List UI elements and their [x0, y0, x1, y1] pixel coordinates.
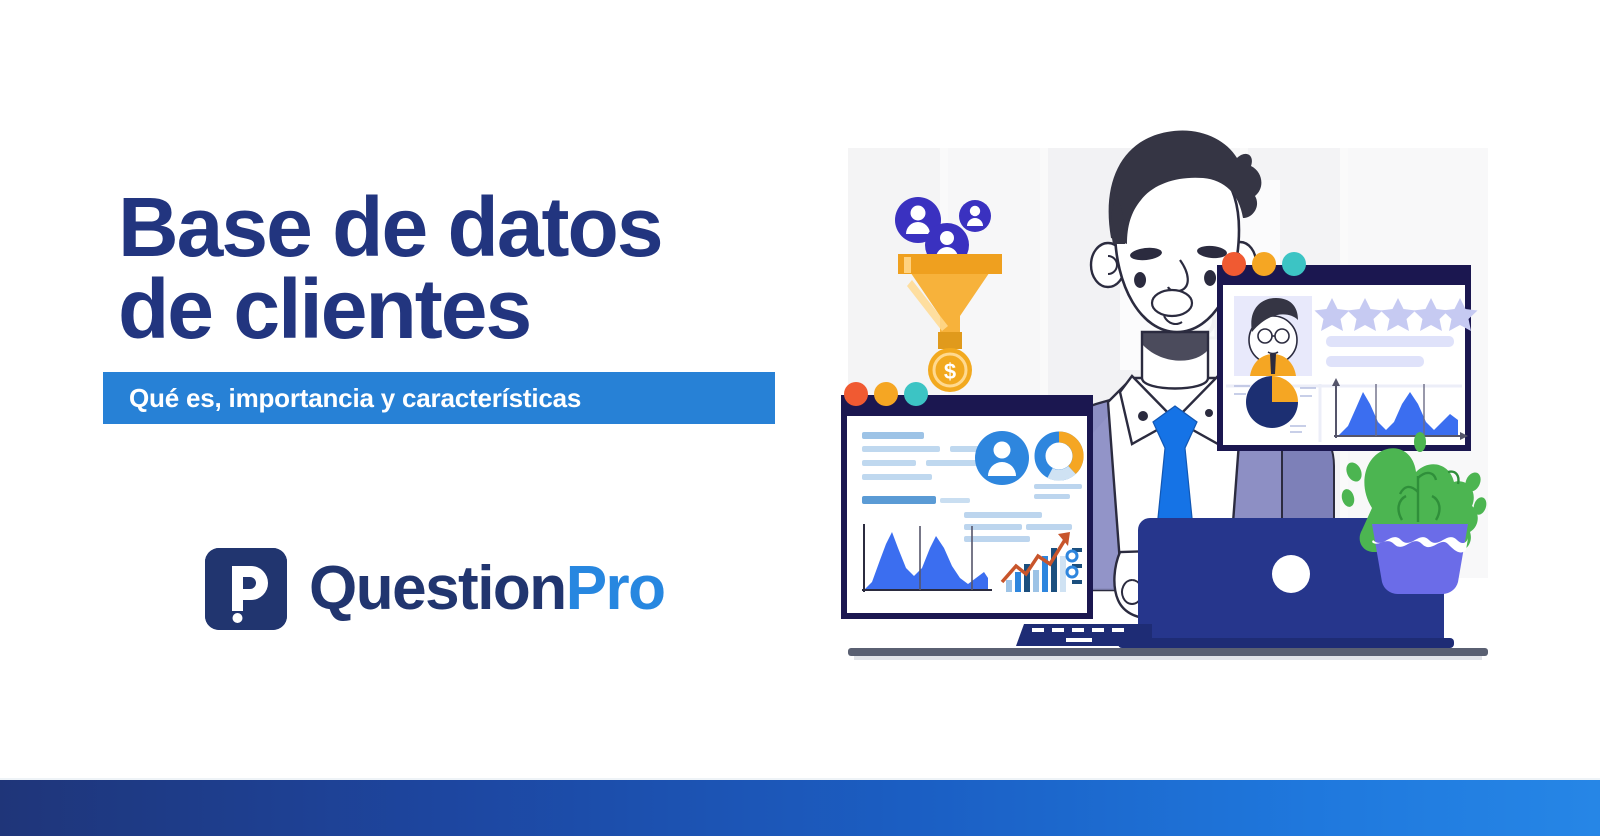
dollar-coin-icon: $ — [928, 348, 972, 392]
hero-illustration: $ — [820, 120, 1520, 680]
page-title: Base de datos de clientes — [118, 186, 808, 351]
window-dot-teal — [904, 382, 928, 406]
hero-text-column: Base de datos de clientes Qué es, import… — [0, 0, 820, 760]
window-dot-red — [844, 382, 868, 406]
subtitle-banner: Qué es, importancia y características — [103, 372, 775, 424]
desk-surface — [848, 648, 1488, 660]
brand-word-question: Question — [309, 554, 566, 623]
questionpro-p-question-mark-icon — [205, 548, 287, 630]
footer-gradient-bar — [0, 780, 1600, 836]
brand-logo[interactable]: QuestionPro — [205, 545, 665, 633]
window-dot-red — [1222, 252, 1246, 276]
window-dot-teal — [1282, 252, 1306, 276]
window-dot-yellow — [874, 382, 898, 406]
plant-pot — [1372, 524, 1468, 594]
poster-canvas: Base de datos de clientes Qué es, import… — [0, 0, 1600, 836]
brand-wordmark: QuestionPro — [309, 558, 665, 620]
left-dashboard-panel — [844, 382, 1090, 616]
svg-text:$: $ — [944, 359, 956, 384]
panel-profile-photo — [1234, 296, 1312, 376]
panel-user-avatar-icon — [975, 431, 1029, 485]
keyboard — [1016, 624, 1152, 646]
brand-word-pro: Pro — [566, 554, 665, 623]
subtitle-text: Qué es, importancia y características — [103, 383, 581, 414]
window-dot-yellow — [1252, 252, 1276, 276]
right-dashboard-panel — [1220, 252, 1478, 448]
